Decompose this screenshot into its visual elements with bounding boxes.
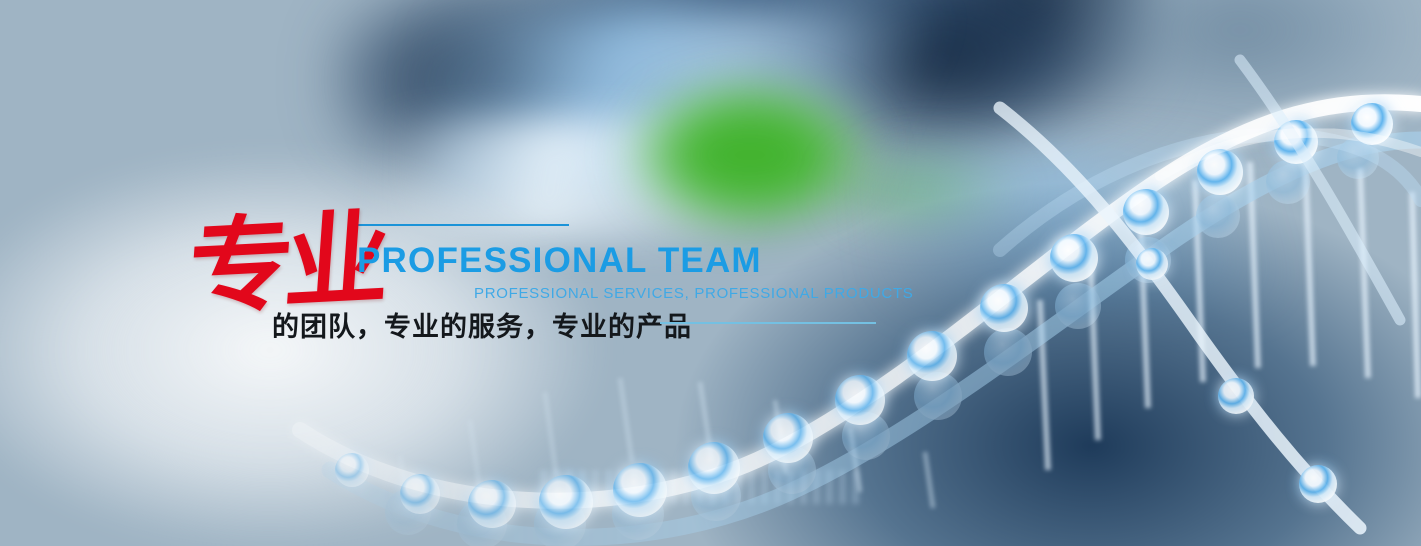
subheadline-services-products: PROFESSIONAL SERVICES, PROFESSIONAL PROD…: [474, 285, 914, 302]
hero-copy-block: 专业 PROFESSIONAL TEAM PROFESSIONAL SERVIC…: [0, 0, 1421, 546]
chinese-tagline: 的团队，专业的服务，专业的产品: [272, 305, 692, 344]
headline-rule-top: [357, 224, 569, 226]
headline-professional-team: PROFESSIONAL TEAM: [357, 241, 762, 281]
hero-banner: 专业 PROFESSIONAL TEAM PROFESSIONAL SERVIC…: [0, 0, 1421, 546]
tagline-rule-bottom: [660, 322, 876, 324]
